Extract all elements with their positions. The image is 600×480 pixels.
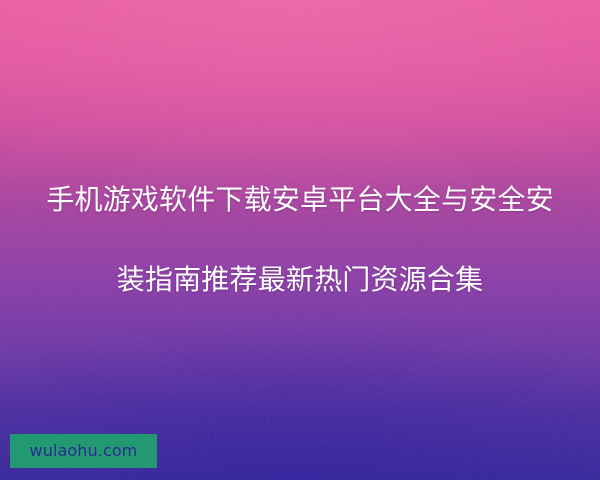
banner-image: 手机游戏软件下载安卓平台大全与安全安 装指南推荐最新热门资源合集 wulaohu… [0,0,600,480]
watermark-badge[interactable]: wulaohu.com [10,434,157,468]
watermark-label: wulaohu.com [30,443,138,459]
background-sheen [0,0,600,480]
